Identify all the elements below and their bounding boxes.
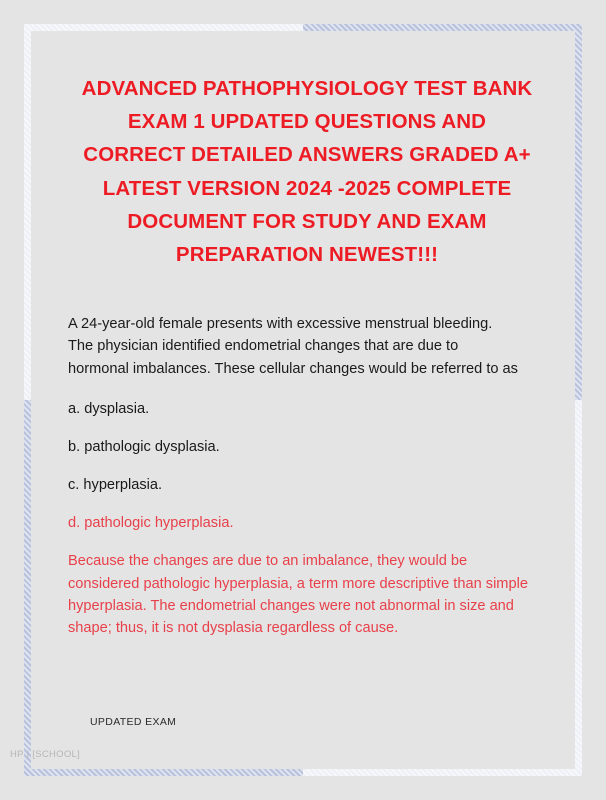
title-line-1: ADVANCED PATHOPHYSIOLOGY TEST BANK bbox=[72, 72, 542, 105]
page-credit: HP | [SCHOOL] bbox=[10, 749, 80, 760]
question-block: A 24-year-old female presents with exces… bbox=[66, 313, 548, 639]
question-stem: A 24-year-old female presents with exces… bbox=[68, 313, 520, 380]
footer-note: UPDATED EXAM bbox=[90, 716, 176, 728]
title-line-5: DOCUMENT FOR STUDY AND EXAM bbox=[72, 205, 542, 238]
document-content: ADVANCED PATHOPHYSIOLOGY TEST BANK EXAM … bbox=[24, 24, 582, 776]
answer-option-b[interactable]: b. pathologic dysplasia. bbox=[68, 436, 520, 458]
answer-option-a[interactable]: a. dysplasia. bbox=[68, 398, 520, 420]
page-title: ADVANCED PATHOPHYSIOLOGY TEST BANK EXAM … bbox=[66, 72, 548, 271]
answer-option-c[interactable]: c. hyperplasia. bbox=[68, 474, 520, 496]
title-line-4: LATEST VERSION 2024 -2025 COMPLETE bbox=[72, 172, 542, 205]
title-line-6: PREPARATION NEWEST!!! bbox=[72, 238, 542, 271]
title-line-3: CORRECT DETAILED ANSWERS GRADED A+ bbox=[72, 138, 542, 171]
answer-explanation: Because the changes are due to an imbala… bbox=[68, 550, 528, 639]
answer-option-d[interactable]: d. pathologic hyperplasia. bbox=[68, 512, 520, 534]
title-line-2: EXAM 1 UPDATED QUESTIONS AND bbox=[72, 105, 542, 138]
